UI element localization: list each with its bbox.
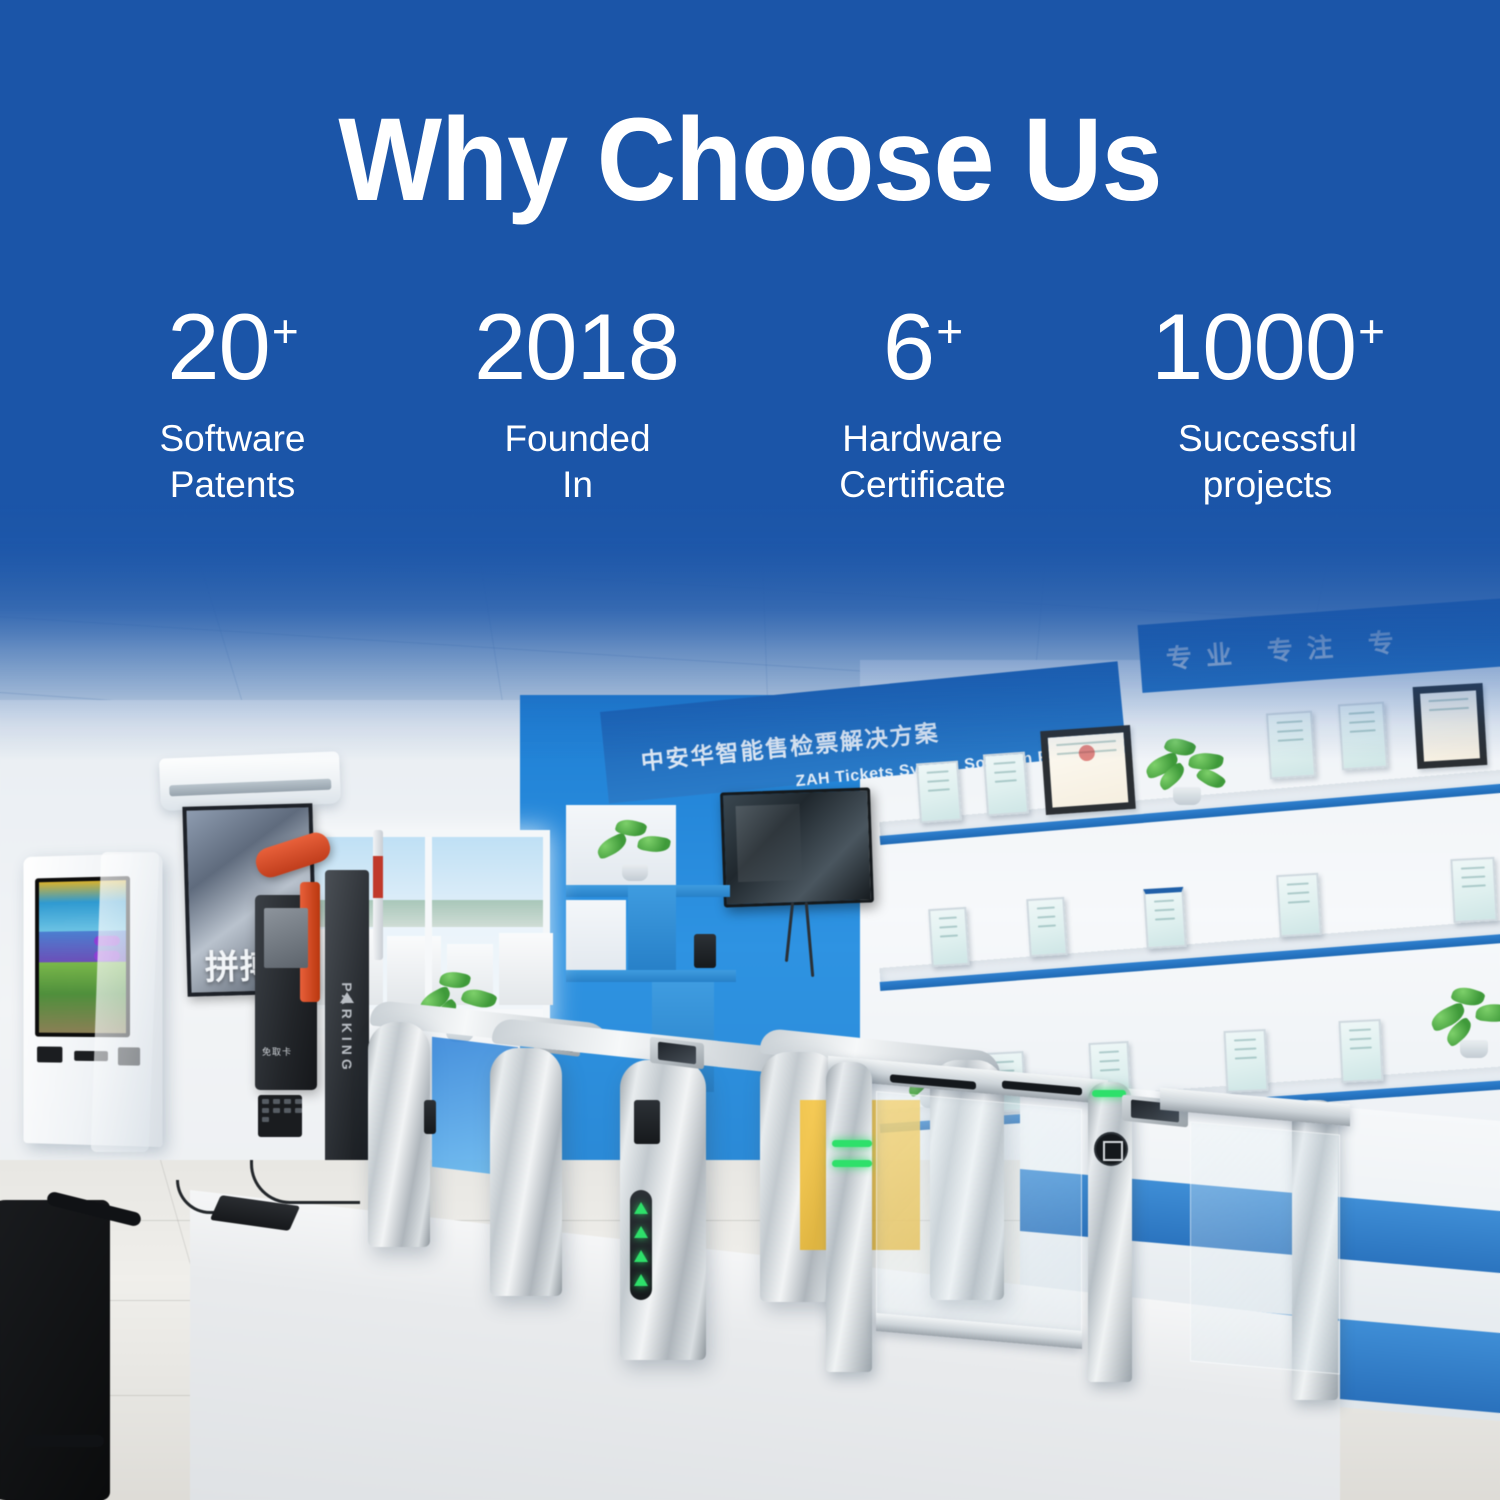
stat-number-suffix: + <box>936 305 962 357</box>
stat-number: 2018 <box>405 300 750 394</box>
stat-number-value: 6 <box>883 294 934 399</box>
showroom-photo: 专业 专注 专 中安华智能售检票解决方案 ZAH Tickets System … <box>0 500 1500 1500</box>
stat-item-founded-in: 2018 Founded In <box>405 300 750 508</box>
why-choose-us-banner: 专业 专注 专 中安华智能售检票解决方案 ZAH Tickets System … <box>0 0 1500 1500</box>
stat-number: 20+ <box>60 300 405 394</box>
stat-number-suffix: + <box>272 305 298 357</box>
stat-number: 6+ <box>750 300 1095 394</box>
stat-label-line1: Software <box>60 416 405 462</box>
stat-number-value: 20 <box>167 294 270 399</box>
stats-row: 20+ Software Patents 2018 Founded In 6+ … <box>60 300 1440 508</box>
stat-label-line1: Founded <box>405 416 750 462</box>
stat-item-successful-projects: 1000+ Successful projects <box>1095 300 1440 508</box>
stat-label: Hardware Certificate <box>750 416 1095 508</box>
stat-number-value: 1000 <box>1151 294 1356 399</box>
stat-label: Founded In <box>405 416 750 508</box>
stat-number-suffix: + <box>1358 305 1384 357</box>
stat-label: Software Patents <box>60 416 405 508</box>
stat-label-line1: Successful <box>1095 416 1440 462</box>
stat-item-hardware-certificate: 6+ Hardware Certificate <box>750 300 1095 508</box>
header-section: Why Choose Us 20+ Software Patents 2018 … <box>0 0 1500 560</box>
stat-number: 1000+ <box>1095 300 1440 394</box>
stat-number-value: 2018 <box>474 294 679 399</box>
stat-label-line1: Hardware <box>750 416 1095 462</box>
stat-item-software-patents: 20+ Software Patents <box>60 300 405 508</box>
page-title: Why Choose Us <box>53 92 1448 228</box>
photo-blue-fade <box>0 500 1500 760</box>
stat-label: Successful projects <box>1095 416 1440 508</box>
